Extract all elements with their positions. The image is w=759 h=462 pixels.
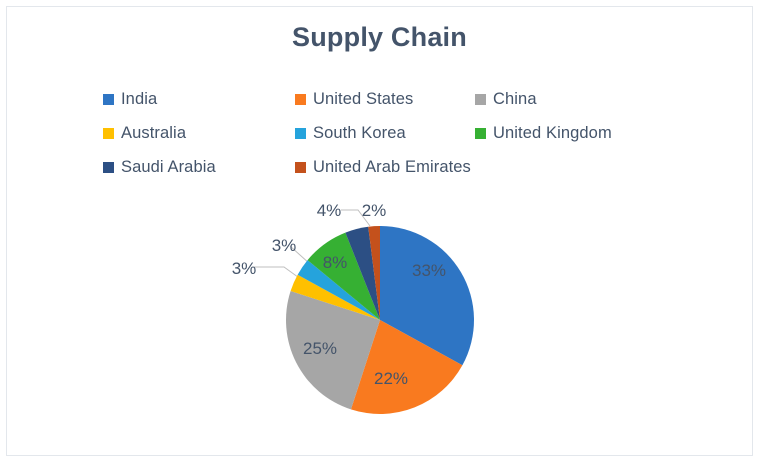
legend-item-saudi-arabia[interactable]: Saudi Arabia	[103, 150, 295, 184]
slice-label-south-korea: 3%	[272, 236, 297, 255]
slice-label-india: 33%	[412, 261, 446, 280]
legend-swatch-icon	[475, 128, 486, 139]
legend-label: South Korea	[313, 124, 406, 143]
legend-label: Australia	[121, 124, 186, 143]
pie-chart-figure: Supply Chain India United States China A…	[0, 0, 759, 462]
legend-swatch-icon	[103, 162, 114, 173]
legend-swatch-icon	[295, 128, 306, 139]
leader-line-australia	[252, 267, 302, 280]
slice-label-australia: 3%	[232, 259, 257, 278]
legend-swatch-icon	[103, 128, 114, 139]
legend-row: Saudi Arabia United Arab Emirates	[103, 150, 663, 184]
legend-item-china[interactable]: China	[475, 82, 663, 116]
pie-plot-area: 33% 22% 25% 8% 3% 3% 4% 2%	[228, 188, 548, 438]
legend-row: Australia South Korea United Kingdom	[103, 116, 663, 150]
legend-label: United Kingdom	[493, 124, 612, 143]
legend-label: United States	[313, 90, 413, 109]
legend-label: India	[121, 90, 157, 109]
legend-label: Saudi Arabia	[121, 158, 216, 177]
legend-label: United Arab Emirates	[313, 158, 471, 177]
legend-item-south-korea[interactable]: South Korea	[295, 116, 475, 150]
slice-label-saudi-arabia: 4%	[317, 201, 342, 220]
legend-item-empty	[475, 150, 663, 184]
slice-label-united-kingdom: 8%	[323, 253, 348, 272]
slice-label-china: 25%	[303, 339, 337, 358]
legend-item-india[interactable]: India	[103, 82, 295, 116]
chart-legend: India United States China Australia Sout…	[103, 82, 663, 184]
legend-swatch-icon	[295, 94, 306, 105]
legend-label: China	[493, 90, 537, 109]
legend-item-united-states[interactable]: United States	[295, 82, 475, 116]
legend-row: India United States China	[103, 82, 663, 116]
slice-label-united-states: 22%	[374, 369, 408, 388]
chart-title: Supply Chain	[0, 20, 759, 54]
legend-item-united-kingdom[interactable]: United Kingdom	[475, 116, 663, 150]
legend-swatch-icon	[295, 162, 306, 173]
pie-svg: 33% 22% 25% 8% 3% 3% 4% 2%	[228, 188, 548, 438]
legend-swatch-icon	[103, 94, 114, 105]
slice-label-united-arab-emirates: 2%	[362, 201, 387, 220]
legend-item-united-arab-emirates[interactable]: United Arab Emirates	[295, 150, 475, 184]
legend-item-australia[interactable]: Australia	[103, 116, 295, 150]
legend-swatch-icon	[475, 94, 486, 105]
